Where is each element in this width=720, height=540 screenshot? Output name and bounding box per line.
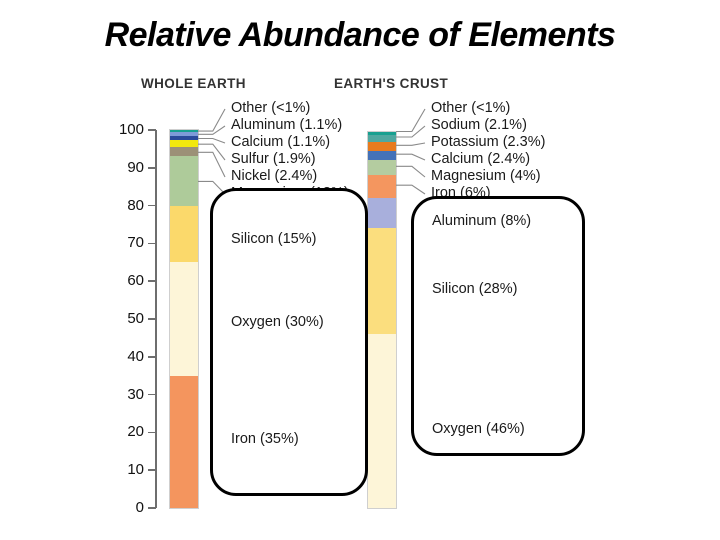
y-axis-tick [148, 205, 156, 207]
bar-segment-magnesium [170, 156, 198, 205]
bar-segment-aluminum [368, 198, 396, 228]
callout-box-whole-earth: Silicon (15%)Oxygen (30%)Iron (35%) [210, 188, 368, 496]
y-axis-tick-label: 80 [110, 197, 144, 214]
segment-label: Calcium (1.1%) [231, 134, 330, 150]
segment-label: Other (<1%) [231, 100, 310, 116]
segment-label: Nickel (2.4%) [231, 168, 317, 184]
stacked-bar-whole-earth [170, 130, 198, 508]
column-header-earths-crust: EARTH'S CRUST [334, 76, 448, 91]
bar-segment-sulfur [170, 140, 198, 147]
chart-canvas: Relative Abundance of Elements WHOLE EAR… [0, 0, 720, 540]
y-axis-tick-label: 40 [110, 348, 144, 365]
stacked-bar-earths-crust [368, 132, 396, 508]
segment-label: Calcium (2.4%) [431, 151, 530, 167]
y-axis-tick-label: 10 [110, 461, 144, 478]
segment-label: Sodium (2.1%) [431, 117, 527, 133]
y-axis-tick [148, 469, 156, 471]
y-axis-tick-label: 100 [110, 121, 144, 138]
y-axis-tick-label: 50 [110, 310, 144, 327]
y-axis-tick [148, 167, 156, 169]
bar-segment-magnesium [368, 160, 396, 175]
y-axis-tick-label: 70 [110, 234, 144, 251]
segment-label: Sulfur (1.9%) [231, 151, 316, 167]
y-axis-tick-label: 90 [110, 159, 144, 176]
page-title: Relative Abundance of Elements [0, 16, 720, 55]
bar-segment-silicon [170, 206, 198, 263]
y-axis-tick [148, 394, 156, 396]
bar-segment-other [368, 132, 396, 135]
y-axis-tick-label: 60 [110, 272, 144, 289]
y-axis-tick [148, 129, 156, 131]
callout-label: Aluminum (8%) [432, 213, 531, 229]
bar-segment-potassium [368, 142, 396, 151]
bar-segment-iron [170, 376, 198, 508]
y-axis-tick-label: 30 [110, 386, 144, 403]
bar-segment-sodium [368, 135, 396, 143]
segment-label: Other (<1%) [431, 100, 510, 116]
callout-label: Oxygen (30%) [231, 314, 324, 330]
bar-segment-iron [368, 175, 396, 198]
bar-segment-oxygen [170, 262, 198, 375]
callout-label: Oxygen (46%) [432, 421, 525, 437]
bar-segment-calcium [170, 136, 198, 140]
bar-segment-other [170, 130, 198, 132]
y-axis-tick [148, 318, 156, 320]
callout-label: Silicon (15%) [231, 231, 316, 247]
y-axis-tick [148, 356, 156, 358]
y-axis-tick [148, 507, 156, 509]
bar-segment-calcium [368, 151, 396, 160]
callout-label: Iron (35%) [231, 431, 299, 447]
y-axis-tick [148, 243, 156, 245]
callout-box-earths-crust: Aluminum (8%)Silicon (28%)Oxygen (46%) [411, 196, 585, 456]
callout-label: Silicon (28%) [432, 281, 517, 297]
y-axis-tick [148, 280, 156, 282]
bar-segment-nickel [170, 147, 198, 156]
segment-label: Magnesium (4%) [431, 168, 541, 184]
y-axis-tick [148, 432, 156, 434]
segment-label: Aluminum (1.1%) [231, 117, 342, 133]
y-axis-tick-label: 0 [110, 499, 144, 516]
bar-segment-aluminum [170, 132, 198, 136]
segment-label: Potassium (2.3%) [431, 134, 545, 150]
y-axis-tick-label: 20 [110, 423, 144, 440]
bar-segment-silicon [368, 228, 396, 334]
bar-segment-oxygen [368, 334, 396, 508]
column-header-whole-earth: WHOLE EARTH [141, 76, 246, 91]
